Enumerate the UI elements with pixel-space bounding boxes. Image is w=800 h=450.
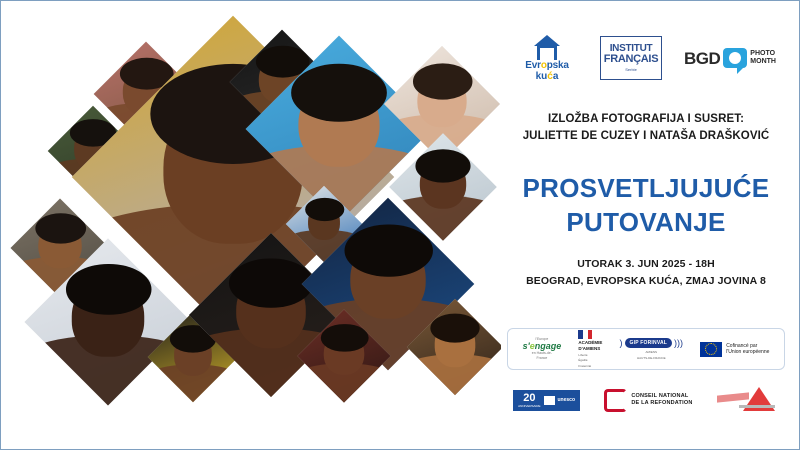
evropska-kuca-logo: Evropska kuća: [516, 35, 578, 82]
eu-cofunding-text: Cofinancé par l'Union européenne: [726, 343, 769, 356]
academie-motto3: Fraternité: [578, 364, 591, 368]
unesco-anniversary-number-group: 20 ANNIVERSAIRE: [518, 393, 540, 408]
chevron-right-icon: ))): [674, 339, 683, 348]
gip-badge-label: GIP FORINVAL: [625, 338, 673, 348]
top-logo-row: Evropska kuća INSTITUT FRANÇAIS Serbie B…: [491, 29, 800, 87]
europe-sengage-word: s'engage: [523, 342, 562, 351]
europe-sengage-bottom2: France: [536, 356, 547, 361]
bgd-wordmark: BGD: [684, 50, 720, 67]
event-datetime: UTORAK 3. JUN 2025 - 18H: [491, 256, 800, 273]
unesco-temple-icon: [544, 396, 555, 405]
gip-pill: ) GIP FORINVAL ))): [620, 338, 684, 348]
camera-icon: [723, 48, 747, 68]
evropska-kuca-line2: kuća: [516, 71, 578, 82]
conseil-national-refondation-logo: CONSEIL NATIONAL DE LA REFONDATION: [604, 389, 692, 412]
cnr-hexagon-icon: [604, 389, 627, 412]
content-column: Evropska kuća INSTITUT FRANÇAIS Serbie B…: [491, 1, 800, 450]
academie-motto1: Liberté: [578, 353, 587, 357]
institut-francais-line3: Serbie: [625, 67, 637, 72]
subtitle-line-1: IZLOŽBA FOTOGRAFIJA I SUSRET:: [491, 111, 800, 128]
photo-mosaic: [1, 1, 501, 450]
house-icon: [534, 35, 560, 59]
bgd-photo-month-logo: BGD PHOTO MONTH: [684, 48, 776, 68]
subtitle-line-2: JULIETTE DE CUZEY I NATAŠA DRAŠKOVIĆ: [491, 128, 800, 145]
academie-motto2: Égalité: [578, 358, 587, 362]
title-line-1: PROSVETLJUJUĆE: [491, 171, 800, 205]
institut-francais-logo: INSTITUT FRANÇAIS Serbie: [600, 36, 662, 80]
title-line-2: PUTOVANJE: [491, 205, 800, 239]
europe-sengage-logo: l'Europe s'engage en Hauts-de- France: [523, 337, 562, 361]
unesco-wordmark: unesco: [558, 397, 576, 403]
partners-row: 20 ANNIVERSAIRE unesco CONSEIL NATIONAL …: [501, 383, 791, 417]
gip-forinval-logo: ) GIP FORINVAL ))) AMIENS HAUTS-DE-FRANC…: [620, 338, 684, 360]
event-title: PROSVETLJUJUĆE PUTOVANJE: [491, 171, 800, 239]
french-flag-icon: [578, 330, 592, 339]
academie-amiens-logo: ACADÉMIE D'AMIENS Liberté Égalité Frater…: [578, 330, 602, 368]
gip-sub2: HAUTS-DE-FRANCE: [637, 356, 666, 360]
funders-strip: l'Europe s'engage en Hauts-de- France AC…: [507, 328, 785, 370]
unesco-anniversary-logo: 20 ANNIVERSAIRE unesco: [513, 390, 580, 411]
event-datetime-location: UTORAK 3. JUN 2025 - 18H BEOGRAD, EVROPS…: [491, 256, 800, 290]
gip-sub1: AMIENS: [646, 350, 658, 354]
unesco-anniversary-number: 20: [518, 393, 540, 404]
event-subtitle: IZLOŽBA FOTOGRAFIJA I SUSRET: JULIETTE D…: [491, 111, 800, 145]
event-location: BEOGRAD, EVROPSKA KUĆA, ZMAJ JOVINA 8: [491, 273, 800, 290]
photo-month-wordmark: PHOTO MONTH: [750, 50, 776, 66]
academie-line2: D'AMIENS: [578, 346, 600, 352]
institut-francais-line2: FRANÇAIS: [604, 54, 658, 64]
unesco-anniversary-caption: ANNIVERSAIRE: [518, 404, 540, 408]
cnr-wordmark: CONSEIL NATIONAL DE LA REFONDATION: [631, 393, 692, 407]
chevron-left-icon: ): [620, 339, 623, 348]
poster-root: Evropska kuća INSTITUT FRANÇAIS Serbie B…: [0, 0, 800, 450]
eu-flag-icon: [700, 342, 722, 357]
partner-red-mark-logo: [717, 387, 779, 413]
evropska-kuca-line1: Evropska: [516, 61, 578, 71]
eu-cofunding-logo: Cofinancé par l'Union européenne: [700, 342, 769, 357]
